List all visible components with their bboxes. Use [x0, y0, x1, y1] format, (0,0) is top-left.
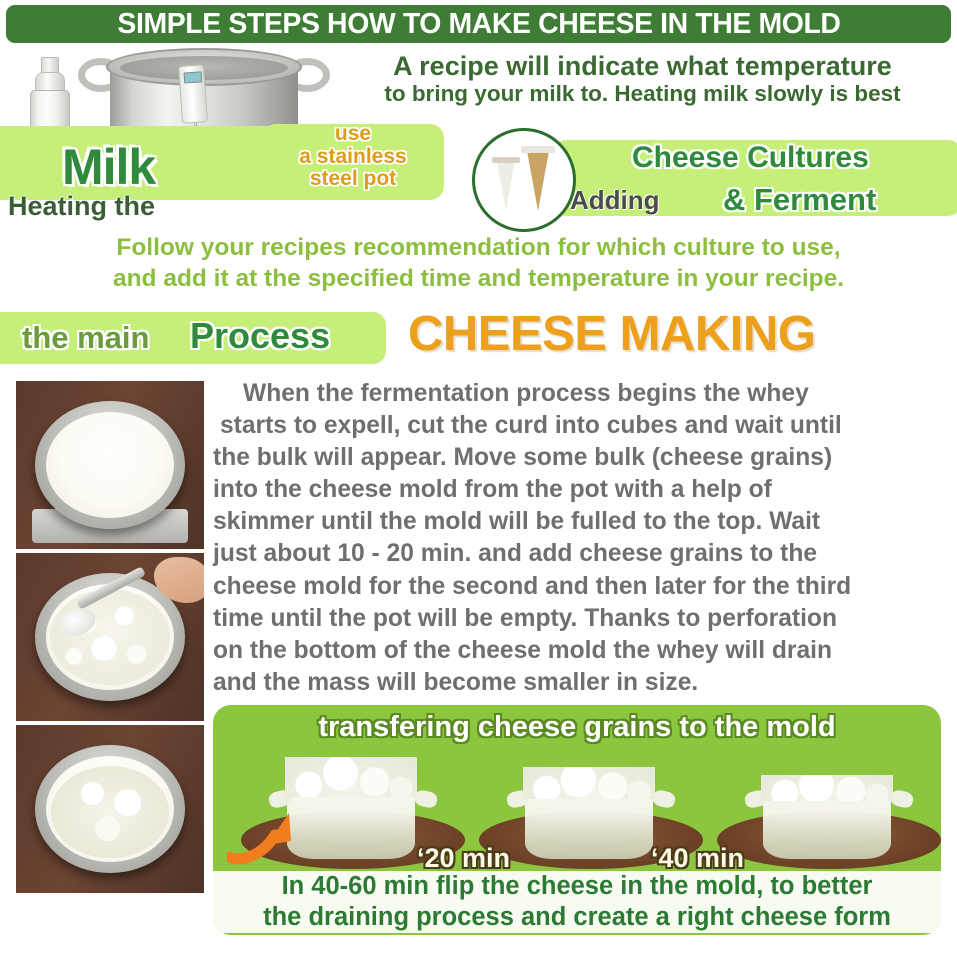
ferment-label: & Ferment	[723, 182, 876, 218]
process-line-9: on the bottom of the cheese mold the whe…	[213, 635, 957, 667]
cheese-making-heading: CHEESE MAKING	[408, 306, 815, 362]
pot-tip-line-2: a stainless	[262, 146, 444, 169]
follow-recipe-line-1: Follow your recipes recommendation for w…	[0, 232, 957, 263]
transfer-panel-caption: In 40-60 min flip the cheese in the mold…	[213, 871, 941, 933]
mold-sequence	[227, 747, 941, 867]
header-banner: SIMPLE STEPS HOW TO MAKE CHEESE IN THE M…	[6, 5, 951, 43]
infographic-canvas: SIMPLE STEPS HOW TO MAKE CHEESE IN THE M…	[0, 0, 957, 960]
follow-recipe-note: Follow your recipes recommendation for w…	[0, 232, 957, 295]
heating-the-label: Heating the	[8, 191, 155, 222]
process-line-7: cheese mold for the second and then late…	[213, 571, 957, 603]
time-label-20-min: ‘20 min	[417, 843, 510, 874]
cheese-cultures-label: Cheese Cultures	[632, 141, 869, 175]
process-line-5: skimmer until the mold will be fulled to…	[213, 506, 957, 538]
pot-with-cut-curd-and-spoon-photo	[16, 553, 204, 721]
process-description: When the fermentation process begins the…	[213, 378, 957, 699]
transfer-panel-title: transfering cheese grains to the mold	[213, 711, 941, 744]
the-main-label: the main	[22, 320, 149, 356]
transfer-panel: transfering cheese grains to the mold	[213, 705, 941, 935]
curved-arrow-icon	[227, 805, 301, 867]
curd-heap	[761, 775, 893, 801]
bottle-shoulder	[35, 72, 65, 92]
thermometer-display	[183, 71, 202, 83]
caption-line-1: In 40-60 min flip the cheese in the mold…	[213, 871, 941, 902]
curd-heap	[285, 757, 417, 797]
process-line-3: the bulk will appear. Move some bulk (ch…	[213, 442, 957, 474]
follow-recipe-line-2: and add it at the specified time and tem…	[0, 263, 957, 294]
pot-tip-label: use a stainless steel pot	[262, 123, 444, 191]
pot-of-warm-milk-photo	[16, 381, 204, 549]
process-line-1: When the fermentation process begins the…	[213, 378, 957, 410]
time-label-40-min: ‘40 min	[651, 843, 744, 874]
culture-vials-icon	[472, 128, 576, 232]
mold-fill-third	[711, 747, 941, 869]
digital-thermometer-icon	[178, 64, 208, 124]
page-title: SIMPLE STEPS HOW TO MAKE CHEESE IN THE M…	[117, 8, 840, 41]
process-line-8: time until the pot will be empty. Thanks…	[213, 603, 957, 635]
process-label: Process	[190, 315, 330, 357]
culture-vial-granules	[527, 151, 549, 211]
pot-with-drained-cheese-grains-photo	[16, 725, 204, 893]
bottle-neck	[41, 57, 59, 73]
mold-ear-right	[651, 789, 676, 810]
cheese-grains-mass	[51, 766, 169, 858]
milk-label: Milk	[62, 138, 155, 196]
adding-label: Adding	[570, 185, 660, 216]
process-line-4: into the cheese mold from the pot with a…	[213, 474, 957, 506]
pot-tip-line-3: steel pot	[262, 168, 444, 191]
caption-line-2: the draining process and create a right …	[213, 902, 941, 933]
curd-cubes	[50, 589, 170, 685]
recipe-note-line-1: A recipe will indicate what temperature	[330, 52, 955, 81]
pot-tip-line-1: use	[262, 123, 444, 146]
recipe-note-line-2: to bring your milk to. Heating milk slow…	[330, 82, 955, 106]
process-line-2: starts to expell, cut the curd into cube…	[213, 410, 957, 442]
milk-surface	[46, 412, 174, 518]
curd-heap	[523, 767, 655, 799]
process-line-10: and the mass will become smaller in size…	[213, 667, 957, 699]
recipe-temperature-note: A recipe will indicate what temperature …	[330, 52, 955, 105]
mold-ear-right	[889, 789, 914, 810]
culture-vial-white	[497, 161, 515, 211]
mold-ear-right	[413, 789, 438, 810]
process-line-6: just about 10 - 20 min. and add cheese g…	[213, 538, 957, 570]
process-photo-column	[16, 381, 204, 893]
